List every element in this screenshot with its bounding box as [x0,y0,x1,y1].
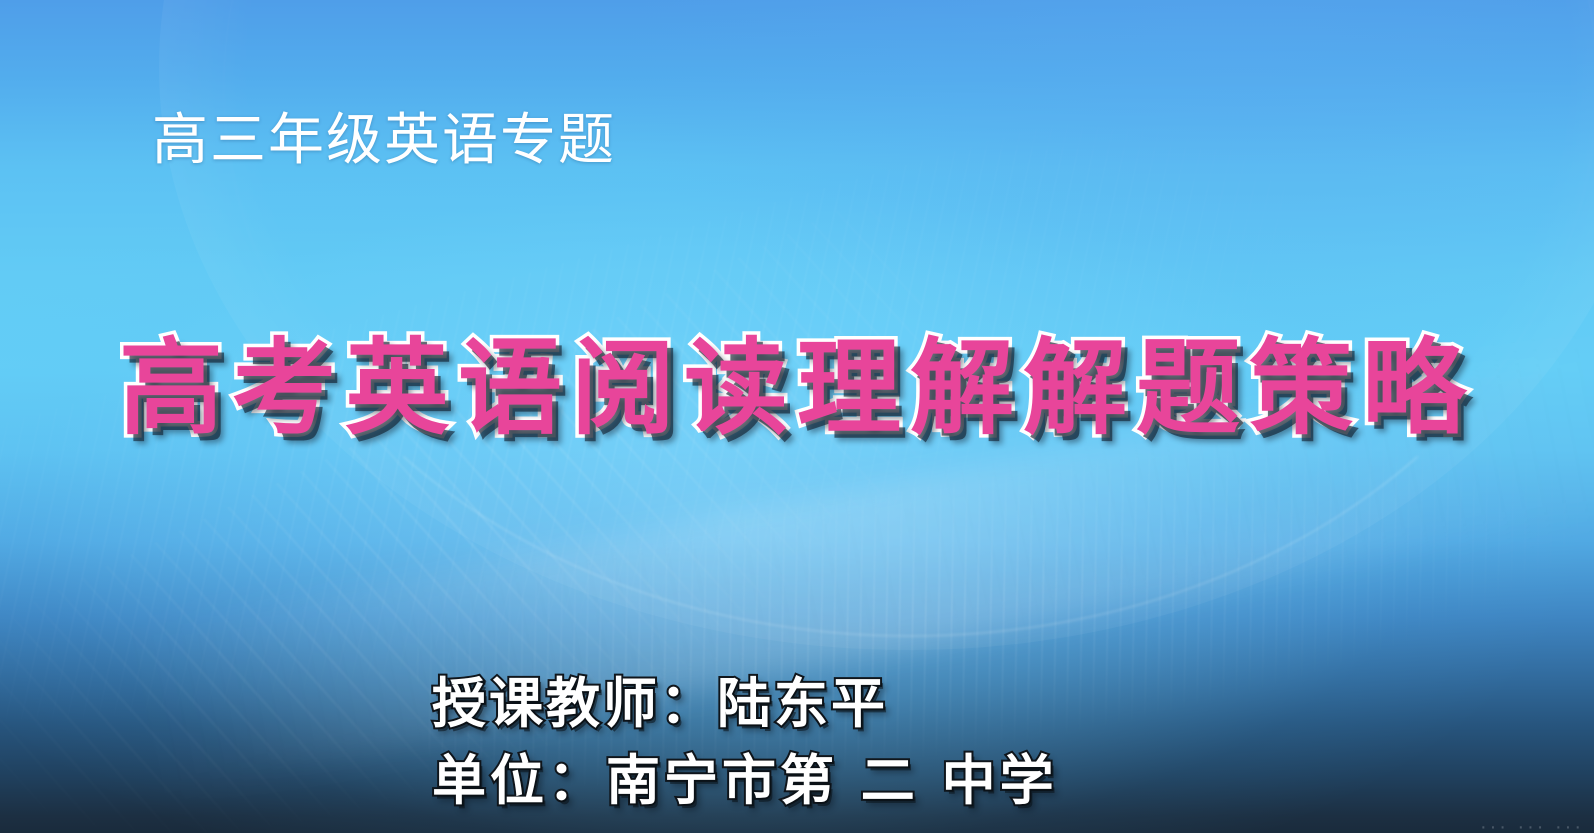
presenter-info-block: 授课教师：陆东平 单位：南宁市第 二 中学 [432,666,1058,819]
presentation-slide: 高三年级英语专题 高考英语阅读理解解题策略 授课教师：陆东平 单位：南宁市第 二… [0,0,1594,833]
background-arc-line [223,0,1594,637]
presenter-teacher-line: 授课教师：陆东平 [432,666,1058,743]
presenter-affiliation-line: 单位：南宁市第 二 中学 [432,743,1058,820]
slide-subtitle: 高三年级英语专题 [152,112,616,171]
watermark-text: ··· ··· ··· [1480,816,1584,833]
slide-main-title: 高考英语阅读理解解题策略 [0,336,1594,440]
background-arc-glow [159,0,1594,650]
